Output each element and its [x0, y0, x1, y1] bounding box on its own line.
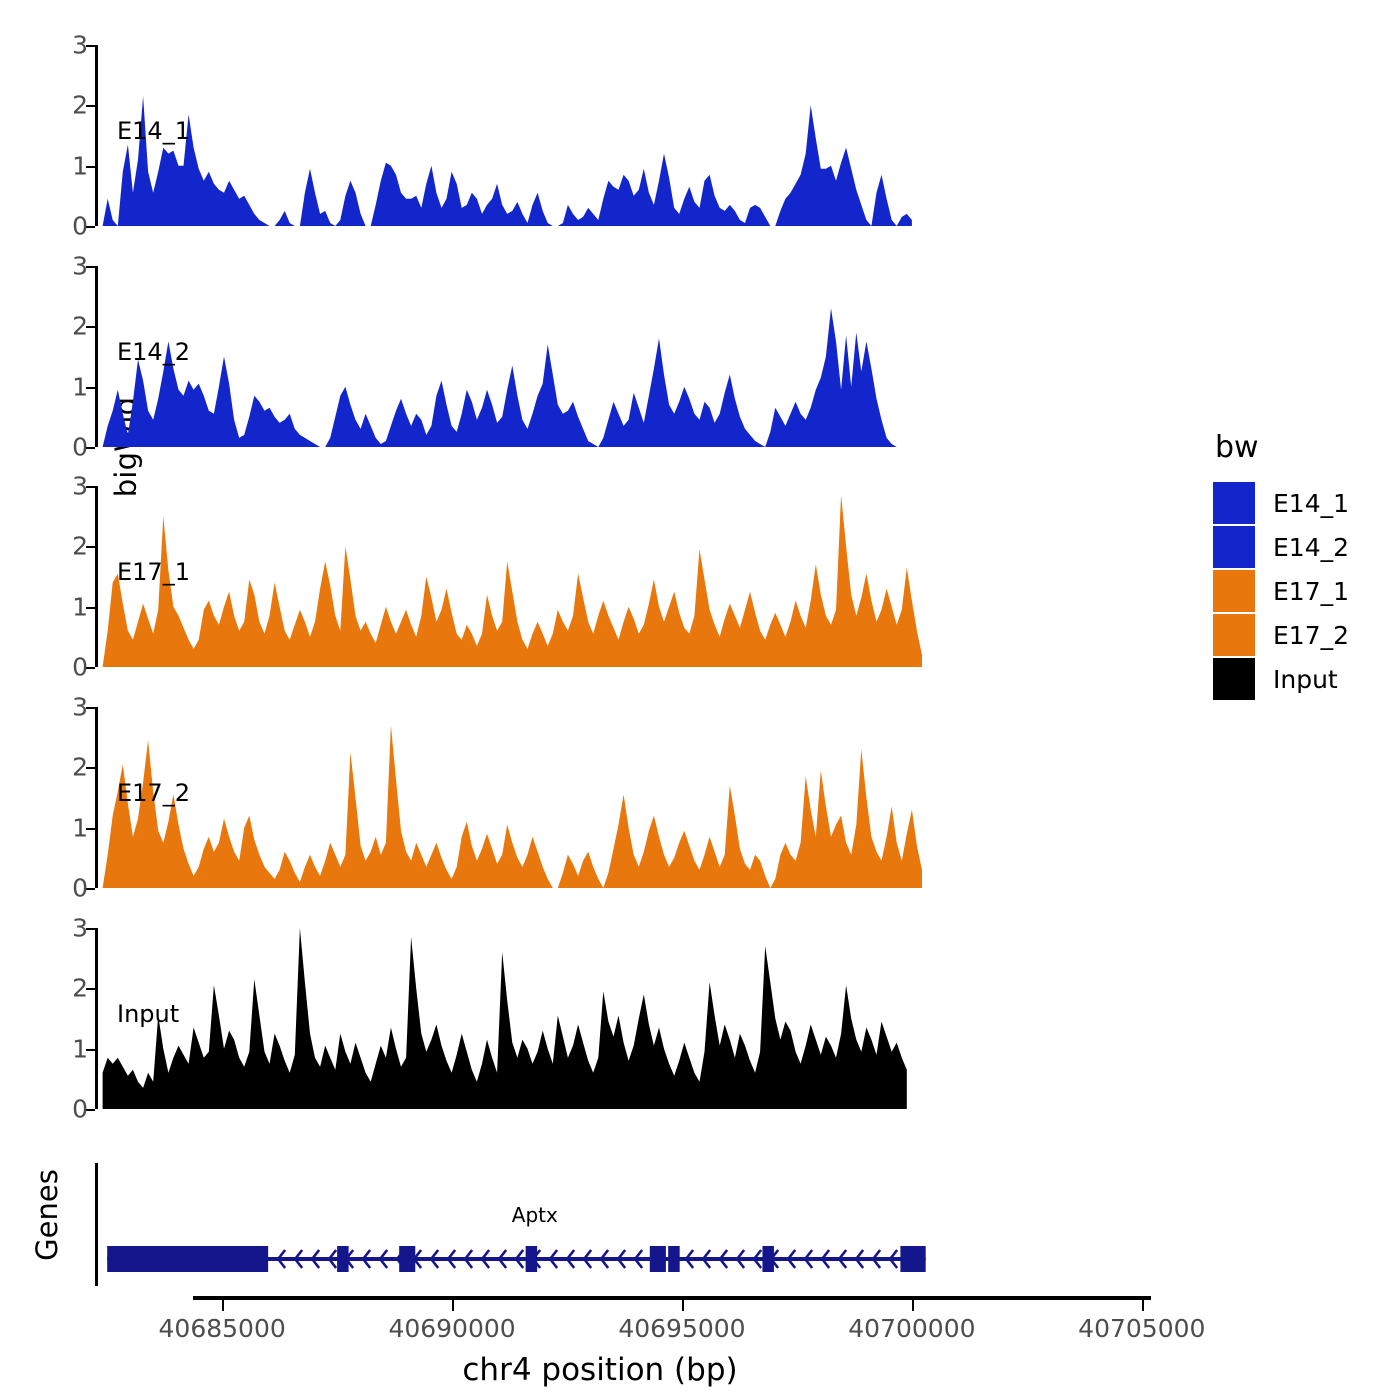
y-tick-label: 3	[72, 916, 88, 941]
track-label-e14_2: E14_2	[117, 338, 190, 366]
legend-label: E14_1	[1273, 489, 1349, 518]
y-tick-label: 0	[72, 214, 88, 239]
gene-name-label: Aptx	[512, 1203, 558, 1227]
track-panel-e14_1: 0123E14_1	[95, 45, 1151, 226]
legend-title: bw	[1213, 430, 1349, 465]
y-tick-label: 3	[72, 254, 88, 279]
y-tick-label: 2	[72, 976, 88, 1001]
gene-exon	[107, 1246, 268, 1272]
track-panel-e17_1: 0123E17_1	[95, 486, 1151, 667]
y-tick-label: 0	[72, 435, 88, 460]
y-tick-label: 2	[72, 93, 88, 118]
x-tick-label: 40700000	[848, 1314, 975, 1343]
legend-item-e17_2[interactable]: E17_2	[1213, 613, 1349, 657]
y-tick-label: 0	[72, 876, 88, 901]
x-axis-title: chr4 position (bp)	[0, 1352, 1200, 1388]
legend-label: E17_2	[1273, 621, 1349, 650]
x-tick	[452, 1300, 454, 1311]
track-label-e17_1: E17_1	[117, 558, 190, 586]
legend-swatch-icon	[1213, 570, 1255, 612]
x-axis-line	[193, 1296, 1151, 1300]
legend-label: E17_1	[1273, 577, 1349, 606]
y-tick-label: 1	[72, 594, 88, 619]
legend-item-input[interactable]: Input	[1213, 657, 1349, 701]
y-tick-label: 3	[72, 33, 88, 58]
track-label-e17_2: E17_2	[117, 779, 190, 807]
y-tick-label: 1	[72, 153, 88, 178]
x-tick	[222, 1300, 224, 1311]
gene-model-aptx[interactable]	[98, 1163, 1151, 1286]
track-area-e14_1	[98, 45, 1151, 226]
legend-swatch-icon	[1213, 526, 1255, 568]
legend-item-e14_2[interactable]: E14_2	[1213, 525, 1349, 569]
y-tick-label: 2	[72, 755, 88, 780]
x-tick	[1142, 1300, 1144, 1311]
track-label-e14_1: E14_1	[117, 117, 190, 145]
y-tick-label: 3	[72, 474, 88, 499]
track-area-e14_2	[98, 266, 1151, 447]
legend: bw E14_1E14_2E17_1E17_2Input	[1213, 430, 1349, 701]
track-area-input	[98, 928, 1151, 1109]
genome-browser-figure: bigWig Genes 0123E14_10123E14_20123E17_1…	[0, 0, 1400, 1400]
legend-swatch-icon	[1213, 482, 1255, 524]
genes-axis-title: Genes	[30, 1130, 64, 1300]
track-panel-e17_2: 0123E17_2	[95, 707, 1151, 888]
x-tick	[682, 1300, 684, 1311]
genes-track-panel: Aptx	[95, 1163, 1151, 1286]
y-tick-label: 1	[72, 1036, 88, 1061]
track-area-e17_2	[98, 707, 1151, 888]
y-tick-label: 2	[72, 534, 88, 559]
gene-exon	[526, 1246, 537, 1272]
legend-item-e17_1[interactable]: E17_1	[1213, 569, 1349, 613]
y-tick-label: 0	[72, 655, 88, 680]
legend-label: Input	[1273, 665, 1338, 694]
track-panel-e14_2: 0123E14_2	[95, 266, 1151, 447]
x-tick-label: 40695000	[618, 1314, 745, 1343]
x-tick-label: 40705000	[1078, 1314, 1205, 1343]
y-tick-label: 1	[72, 815, 88, 840]
track-area-e17_1	[98, 486, 1151, 667]
track-label-input: Input	[117, 1000, 179, 1028]
legend-item-e14_1[interactable]: E14_1	[1213, 481, 1349, 525]
x-tick-label: 40690000	[388, 1314, 515, 1343]
y-tick-label: 1	[72, 374, 88, 399]
y-tick-label: 2	[72, 314, 88, 339]
legend-label: E14_2	[1273, 533, 1349, 562]
track-panel-input: 0123Input	[95, 928, 1151, 1109]
legend-items: E14_1E14_2E17_1E17_2Input	[1213, 481, 1349, 701]
x-tick-label: 40685000	[159, 1314, 286, 1343]
x-tick	[912, 1300, 914, 1311]
y-tick-label: 3	[72, 695, 88, 720]
legend-swatch-icon	[1213, 658, 1255, 700]
y-tick-label: 0	[72, 1097, 88, 1122]
legend-swatch-icon	[1213, 614, 1255, 656]
